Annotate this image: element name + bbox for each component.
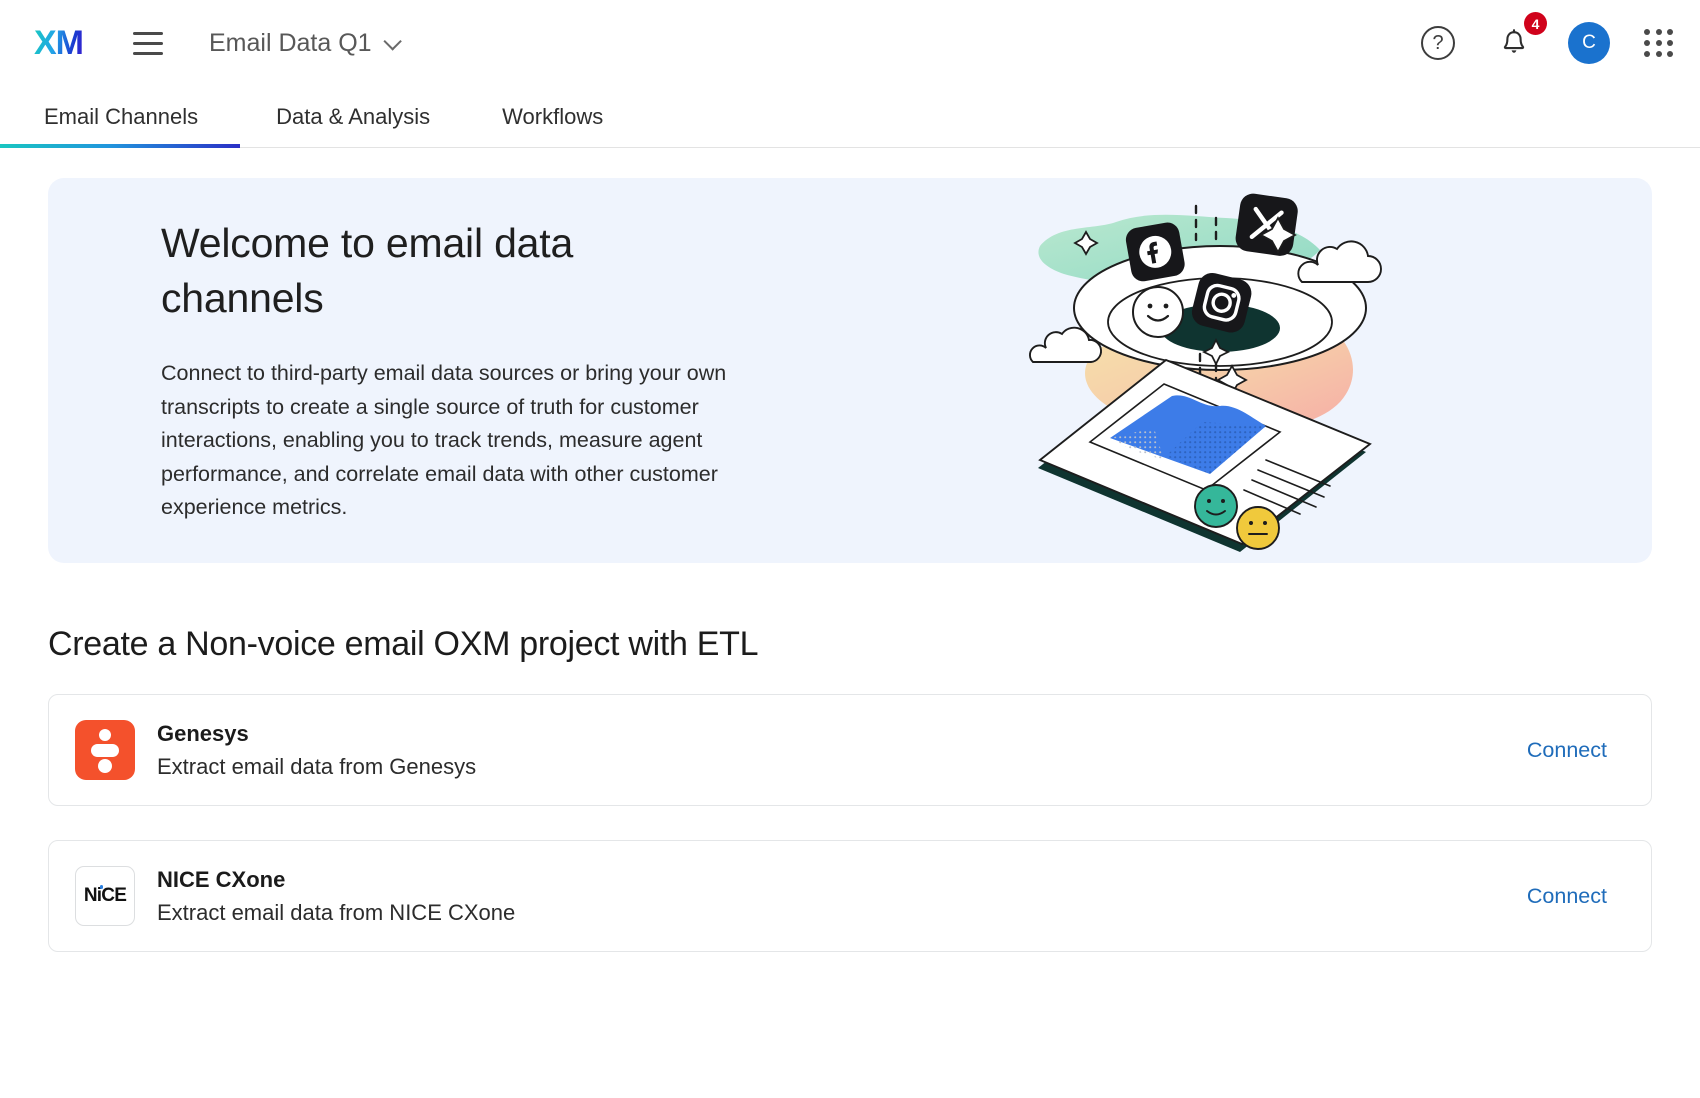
tab-workflows[interactable]: Workflows — [466, 86, 639, 147]
project-title: Email Data Q1 — [209, 29, 372, 58]
tab-label: Email Channels — [44, 104, 198, 130]
integration-name: Genesys — [157, 721, 476, 747]
tab-email-channels[interactable]: Email Channels — [0, 86, 240, 147]
project-selector[interactable]: Email Data Q1 — [209, 29, 397, 58]
genesys-logo — [75, 720, 135, 780]
integration-card-genesys[interactable]: Genesys Extract email data from Genesys … — [48, 694, 1652, 806]
notification-count-badge: 4 — [1524, 12, 1547, 35]
grid-dot — [1656, 51, 1662, 57]
section-title: Create a Non-voice email OXM project wit… — [48, 625, 1652, 664]
top-navigation-bar: XM Email Data Q1 ? 4 C — [0, 0, 1700, 86]
nice-cxone-logo: NiCE — [75, 866, 135, 926]
page-title: Welcome to email data channels — [161, 216, 681, 325]
xm-logo[interactable]: XM — [34, 26, 83, 60]
integration-card-nice-cxone[interactable]: NiCE NICE CXone Extract email data from … — [48, 840, 1652, 952]
integration-text: NICE CXone Extract email data from NICE … — [157, 867, 515, 926]
tab-data-and-analysis[interactable]: Data & Analysis — [240, 86, 466, 147]
welcome-banner: Welcome to email data channels Connect t… — [48, 178, 1652, 563]
tab-label: Workflows — [502, 104, 603, 130]
genesys-mark-top — [99, 729, 111, 741]
bell-icon — [1501, 29, 1527, 57]
grid-dot — [1644, 29, 1650, 35]
nice-logo-accent-dot — [100, 885, 104, 889]
banner-text-block: Welcome to email data channels Connect t… — [48, 216, 778, 525]
genesys-mark-middle — [91, 744, 119, 757]
primary-tab-bar: Email Channels Data & Analysis Workflows — [0, 86, 1700, 148]
banner-description: Connect to third-party email data source… — [161, 357, 778, 525]
grid-dot — [1644, 40, 1650, 46]
grid-dot — [1667, 51, 1673, 57]
integration-description: Extract email data from NICE CXone — [157, 900, 515, 926]
connect-button-genesys[interactable]: Connect — [1527, 738, 1607, 763]
question-mark-icon: ? — [1421, 26, 1455, 60]
hamburger-line — [133, 42, 163, 45]
chevron-down-icon — [383, 32, 401, 50]
nice-logo-text: NiCE — [84, 885, 126, 907]
help-button[interactable]: ? — [1416, 21, 1460, 65]
grid-dot — [1667, 29, 1673, 35]
grid-dot — [1644, 51, 1650, 57]
email-data-funnel-illustration — [1020, 188, 1420, 558]
grid-dot — [1667, 40, 1673, 46]
hamburger-line — [133, 32, 163, 35]
integration-name: NICE CXone — [157, 867, 515, 893]
integration-description: Extract email data from Genesys — [157, 754, 476, 780]
notifications-button[interactable]: 4 — [1492, 21, 1536, 65]
avatar[interactable]: C — [1568, 22, 1610, 64]
grid-dot — [1656, 40, 1662, 46]
app-grid-icon[interactable] — [1644, 29, 1674, 57]
hamburger-line — [133, 52, 163, 55]
grid-dot — [1656, 29, 1662, 35]
connect-button-nice-cxone[interactable]: Connect — [1527, 884, 1607, 909]
main-content: Welcome to email data channels Connect t… — [0, 178, 1700, 952]
hamburger-menu-icon[interactable] — [133, 32, 163, 55]
integration-text: Genesys Extract email data from Genesys — [157, 721, 476, 780]
genesys-mark-bottom — [98, 759, 112, 773]
tab-label: Data & Analysis — [276, 104, 430, 130]
